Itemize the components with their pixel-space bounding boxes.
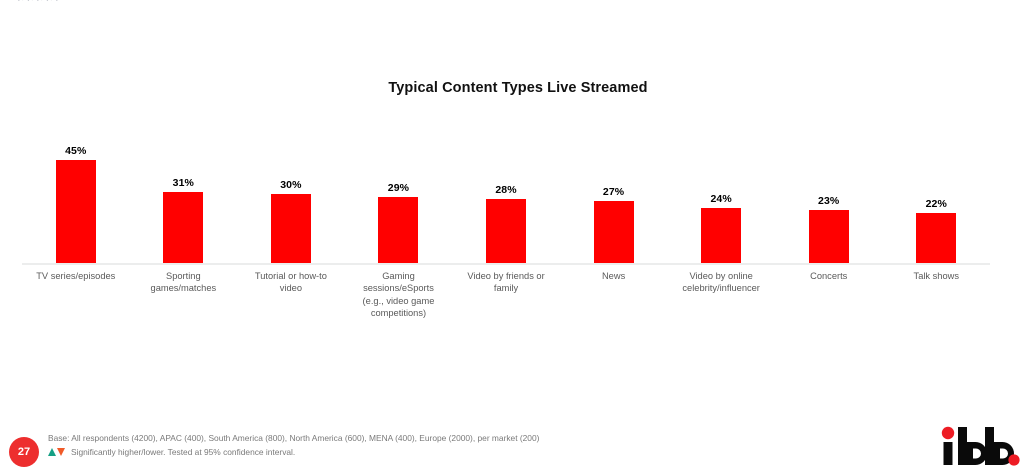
triangle-down-icon (57, 448, 65, 456)
bar-slot: 24% (667, 140, 775, 263)
bar-slot: 29% (345, 140, 453, 263)
bar (701, 208, 741, 263)
bar-value-label: 24% (710, 193, 731, 205)
bar-value-label: 31% (173, 177, 194, 189)
bar (486, 199, 526, 263)
logo-period-dot-icon (1008, 454, 1019, 465)
bar-value-label: 30% (280, 179, 301, 191)
bar (809, 210, 849, 263)
bar (916, 213, 956, 263)
bar-value-label: 23% (818, 195, 839, 207)
bar-series: 45%31%30%29%28%27%24%23%22% (22, 140, 990, 263)
bar-slot: 45% (22, 140, 130, 263)
iab-logo (934, 424, 1020, 466)
bar-slot: 23% (775, 140, 883, 263)
category-label: Gaming sessions/eSports (e.g., video gam… (345, 270, 453, 320)
bar-slot: 31% (130, 140, 238, 263)
footnote-base: Base: All respondents (4200), APAC (400)… (48, 431, 768, 445)
bar-value-label: 28% (495, 184, 516, 196)
bar-chart-plot: 45%31%30%29%28%27%24%23%22% (22, 140, 990, 265)
significance-markers (48, 446, 66, 460)
bar (56, 160, 96, 263)
category-label: Sporting games/matches (130, 270, 238, 295)
category-label: Video by friends or family (452, 270, 560, 295)
bar-slot: 28% (452, 140, 560, 263)
x-axis-line (22, 263, 990, 265)
bar (594, 201, 634, 263)
clipped-top-text: ), ), ), ), ) (0, 0, 1036, 3)
chart-title: Typical Content Types Live Streamed (0, 80, 1036, 96)
triangle-up-icon (48, 448, 56, 456)
bar (271, 194, 311, 263)
slide-canvas: ), ), ), ), ) Typical Content Types Live… (0, 0, 1036, 472)
category-label: News (560, 270, 668, 282)
page-number-badge: 27 (9, 437, 39, 467)
footnotes: Base: All respondents (4200), APAC (400)… (48, 431, 768, 459)
category-label: Video by online celebrity/influencer (667, 270, 775, 295)
footnote-significance-row: Significantly higher/lower. Tested at 95… (48, 445, 768, 459)
bar-slot: 30% (237, 140, 345, 263)
bar (163, 192, 203, 263)
category-axis-labels: TV series/episodesSporting games/matches… (22, 270, 990, 320)
category-label: Tutorial or how-to video (237, 270, 345, 295)
category-label: Talk shows (883, 270, 991, 282)
bar-value-label: 22% (926, 198, 947, 210)
logo-i-dot-icon (942, 427, 954, 439)
bar-value-label: 45% (65, 145, 86, 157)
category-label: Concerts (775, 270, 883, 282)
footnote-significance-text: Significantly higher/lower. Tested at 95… (71, 447, 295, 457)
bar-slot: 22% (883, 140, 991, 263)
bar-slot: 27% (560, 140, 668, 263)
bar-value-label: 27% (603, 186, 624, 198)
bar (378, 197, 418, 263)
bar-value-label: 29% (388, 182, 409, 194)
category-label: TV series/episodes (22, 270, 130, 282)
